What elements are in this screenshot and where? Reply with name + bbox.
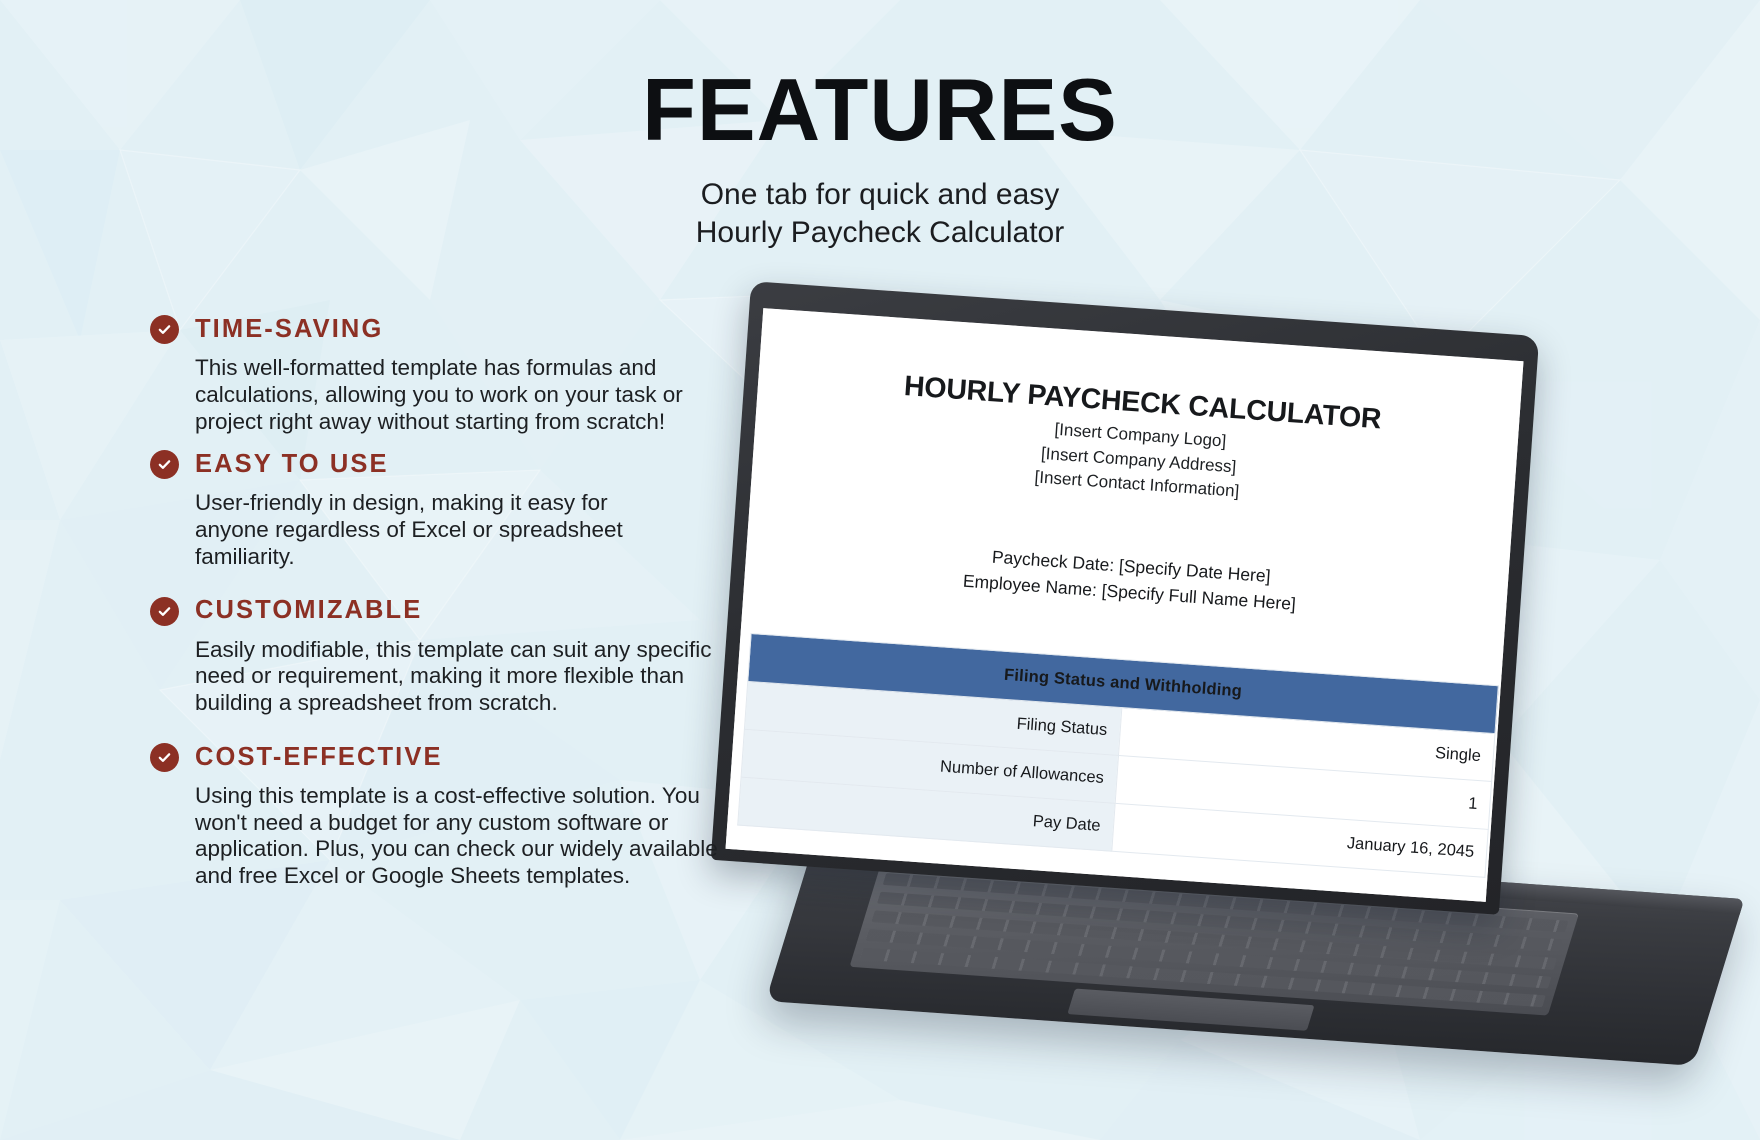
paycheck-meta: Paycheck Date: [Specify Date Here] Emplo…: [754, 527, 1506, 632]
laptop-mockup: HOURLY PAYCHECK CALCULATOR [Insert Compa…: [700, 280, 1760, 1140]
filing-status-table: Filing Status and Withholding Filing Sta…: [737, 633, 1499, 878]
laptop-lid: HOURLY PAYCHECK CALCULATOR [Insert Compa…: [711, 281, 1540, 915]
spreadsheet-document[interactable]: HOURLY PAYCHECK CALCULATOR [Insert Compa…: [726, 308, 1524, 902]
laptop-screen[interactable]: HOURLY PAYCHECK CALCULATOR [Insert Compa…: [726, 308, 1524, 902]
